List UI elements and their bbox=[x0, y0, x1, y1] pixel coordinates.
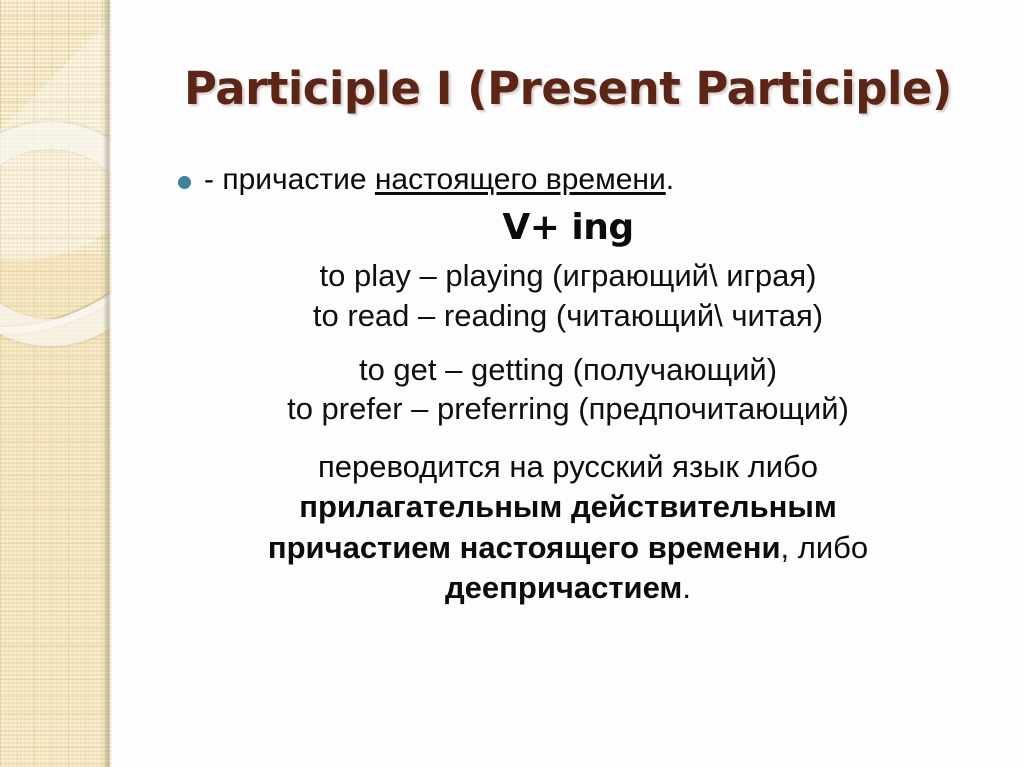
example-line: to play – playing (играющий\ играя) bbox=[112, 256, 1024, 296]
decorative-side-band bbox=[0, 0, 112, 767]
translation-line-3-bold: причастием настоящего времени bbox=[268, 530, 781, 565]
definition-bullet-row: - причастие настоящего времени. bbox=[112, 162, 1024, 197]
translation-line-4: деепричастием. bbox=[112, 568, 1024, 608]
slide-title: Participle I (Present Participle) bbox=[112, 62, 1024, 115]
presentation-slide: Participle I (Present Participle) - прич… bbox=[0, 0, 1024, 767]
translation-note: переводится на русский язык либо прилага… bbox=[112, 447, 1024, 608]
translation-line-1: переводится на русский язык либо bbox=[112, 447, 1024, 487]
thick-ring-icon bbox=[0, 122, 112, 346]
definition-text: - причастие настоящего времени. bbox=[204, 162, 674, 197]
translation-line-3: причастием настоящего времени, либо bbox=[112, 528, 1024, 568]
definition-suffix: . bbox=[666, 163, 674, 196]
example-line: to read – reading (читающий\ читая) bbox=[112, 296, 1024, 336]
translation-line-4-bold: деепричастием bbox=[445, 570, 682, 605]
translation-line-2-bold: прилагательным действительным bbox=[299, 489, 837, 524]
slide-content: Participle I (Present Participle) - прич… bbox=[112, 0, 1024, 767]
example-line: to get – getting (получающий) bbox=[112, 350, 1024, 390]
definition-underlined: настоящего времени bbox=[375, 163, 666, 196]
bullet-dot-icon bbox=[178, 176, 191, 189]
translation-line-3-rest: , либо bbox=[781, 530, 869, 565]
examples-list: to play – playing (играющий\ играя) to r… bbox=[112, 256, 1024, 429]
examples-spacer bbox=[112, 336, 1024, 350]
slide-body: - причастие настоящего времени. V+ ing t… bbox=[112, 162, 1024, 608]
translation-line-2: прилагательным действительным bbox=[112, 487, 1024, 527]
translation-line-4-rest: . bbox=[682, 570, 691, 605]
formula-text: V+ ing bbox=[112, 207, 1024, 248]
definition-prefix: - причастие bbox=[204, 163, 375, 196]
example-line: to prefer – preferring (предпочитающий) bbox=[112, 389, 1024, 429]
